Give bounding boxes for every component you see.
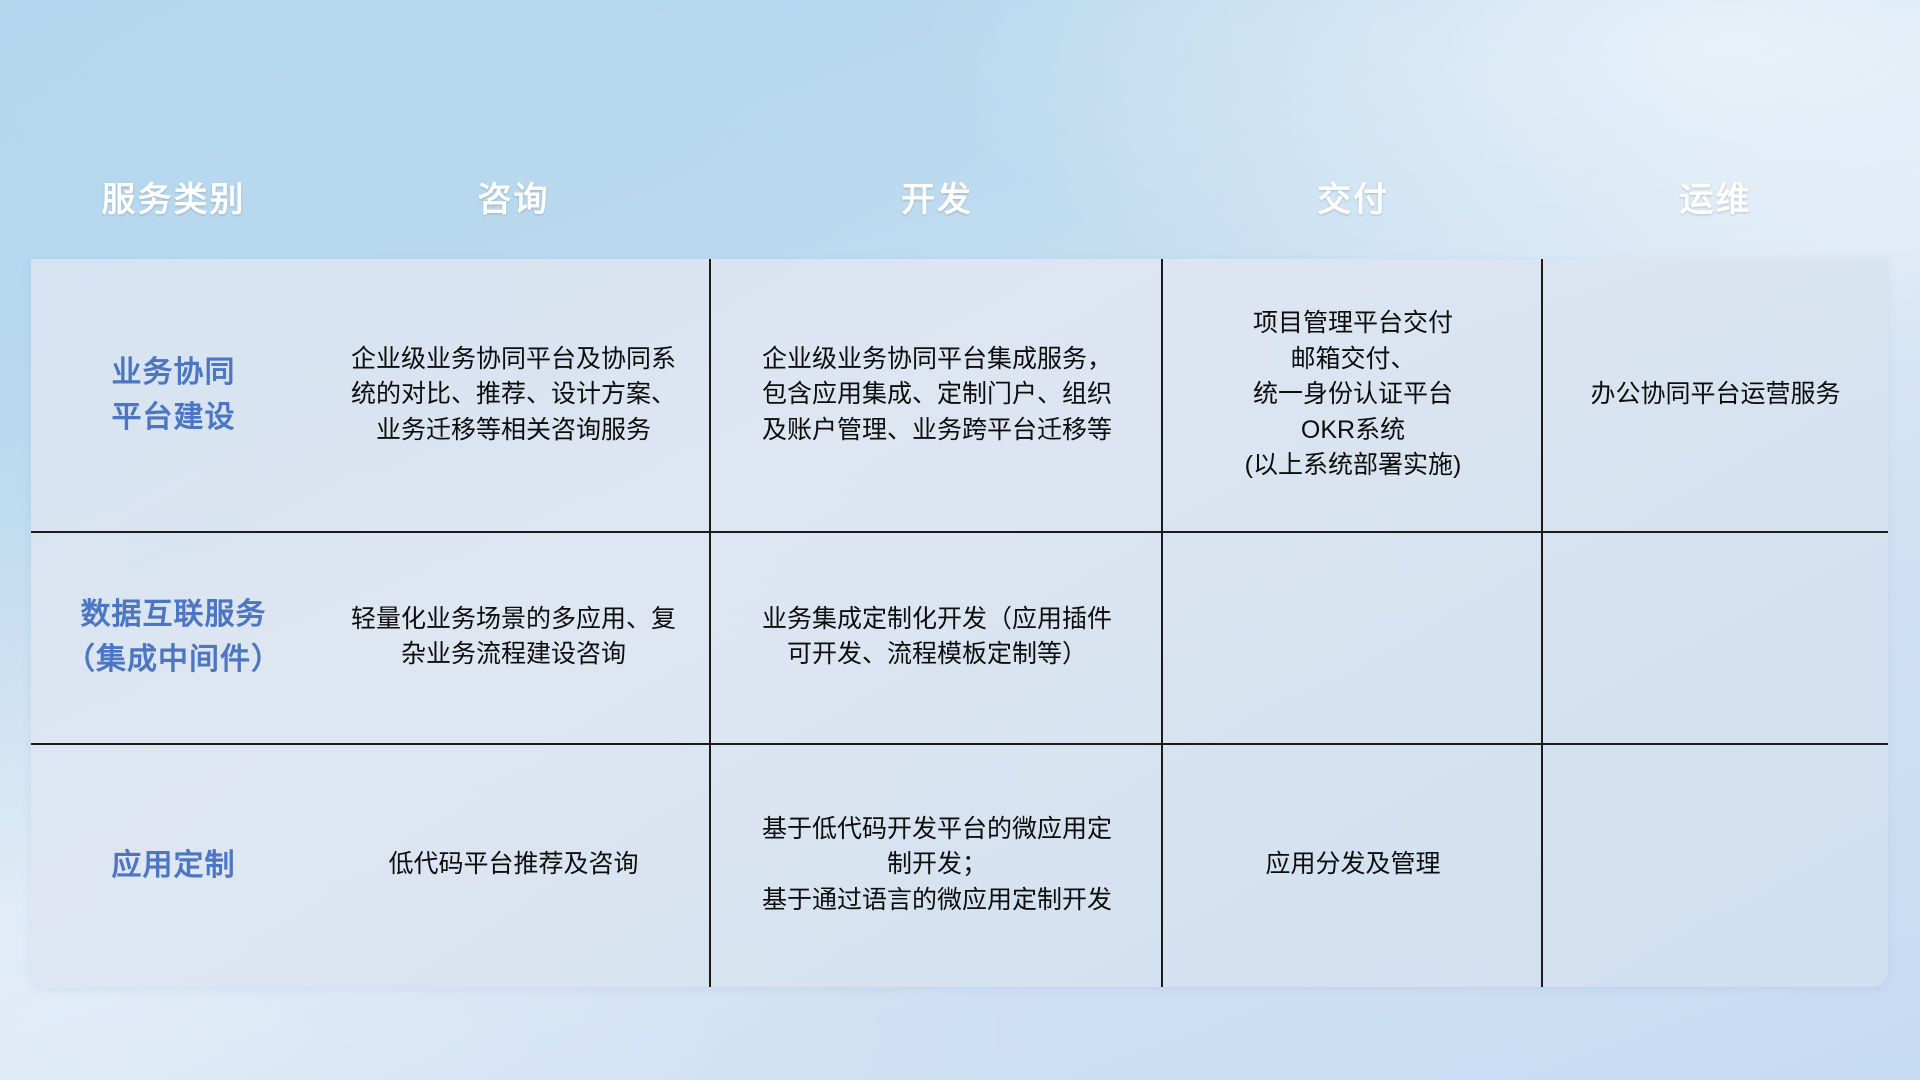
- table-row: 业务协同 平台建设 企业级业务协同平台及协同系 统的对比、推荐、设计方案、 业务…: [31, 259, 1888, 531]
- table-body: 业务协同 平台建设 企业级业务协同平台及协同系 统的对比、推荐、设计方案、 业务…: [31, 259, 1888, 987]
- cell-consulting: 企业级业务协同平台及协同系 统的对比、推荐、设计方案、 业务迁移等相关咨询服务: [316, 259, 711, 531]
- table-header-cell-service-category: 服务类别: [31, 133, 316, 259]
- cell-delivery: 项目管理平台交付 邮箱交付、 统一身份认证平台 OKR系统 (以上系统部署实施): [1163, 259, 1543, 531]
- cell-delivery: 应用分发及管理: [1163, 743, 1543, 987]
- table-header-row: 服务类别 咨询 开发 交付 运维: [31, 133, 1888, 259]
- table-header-cell-operations: 运维: [1543, 133, 1888, 259]
- table-header-cell-consulting: 咨询: [316, 133, 711, 259]
- table-header-cell-delivery: 交付: [1163, 133, 1543, 259]
- service-matrix-table: 服务类别 咨询 开发 交付 运维 业务协同 平台建设 企业级业务协同平台及协同系…: [31, 133, 1888, 987]
- cell-operations: 办公协同平台运营服务: [1543, 259, 1888, 531]
- slide-canvas: 服务类别 咨询 开发 交付 运维 业务协同 平台建设 企业级业务协同平台及协同系…: [0, 0, 1920, 1080]
- cell-operations: [1543, 743, 1888, 987]
- cell-operations: [1543, 531, 1888, 743]
- cell-consulting: 轻量化业务场景的多应用、复 杂业务流程建设咨询: [316, 531, 711, 743]
- cell-development: 业务集成定制化开发（应用插件 可开发、流程模板定制等）: [711, 531, 1163, 743]
- table-row: 应用定制 低代码平台推荐及咨询 基于低代码开发平台的微应用定 制开发； 基于通过…: [31, 743, 1888, 987]
- cell-consulting: 低代码平台推荐及咨询: [316, 743, 711, 987]
- table-row: 数据互联服务 （集成中间件） 轻量化业务场景的多应用、复 杂业务流程建设咨询 业…: [31, 531, 1888, 743]
- row-category-label: 数据互联服务 （集成中间件）: [31, 531, 316, 743]
- cell-delivery: [1163, 531, 1543, 743]
- cell-development: 基于低代码开发平台的微应用定 制开发； 基于通过语言的微应用定制开发: [711, 743, 1163, 987]
- cell-development: 企业级业务协同平台集成服务， 包含应用集成、定制门户、组织 及账户管理、业务跨平…: [711, 259, 1163, 531]
- row-category-label: 业务协同 平台建设: [31, 259, 316, 531]
- table-header-cell-development: 开发: [711, 133, 1163, 259]
- row-category-label: 应用定制: [31, 743, 316, 987]
